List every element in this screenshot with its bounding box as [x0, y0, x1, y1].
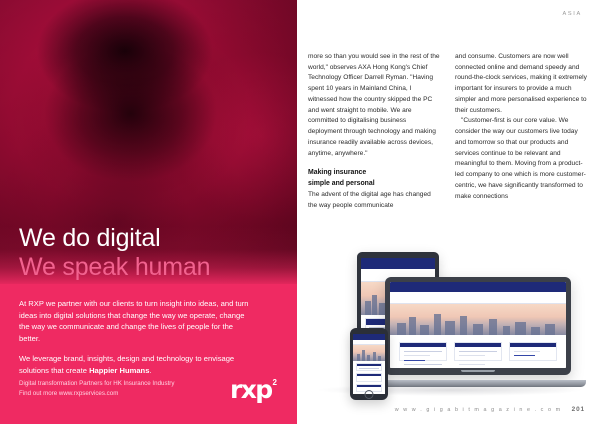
- advert-paragraph-2-emphasis: Happier Humans: [89, 366, 149, 375]
- advert-paragraph-2: We leverage brand, insights, design and …: [19, 353, 255, 376]
- logo-superscript: 2: [273, 379, 277, 387]
- laptop-screen: [390, 282, 566, 368]
- ui-card-line: [404, 355, 430, 356]
- ui-card-line: [404, 364, 441, 365]
- section-kicker: ASIA: [562, 11, 582, 17]
- device-mockup-image: [301, 250, 597, 402]
- laptop-base: [370, 380, 586, 387]
- ui-card-line: [514, 351, 540, 352]
- caption-line-1: Digital transformation Partners for HK I…: [19, 379, 219, 389]
- ui-topbar: [361, 258, 435, 269]
- ui-card-header: [510, 343, 557, 347]
- subheading-line-1: Making insurance: [308, 169, 366, 176]
- headline-line-1: We do digital: [19, 224, 210, 253]
- ui-card-line: [459, 364, 485, 365]
- ui-card: [509, 342, 558, 361]
- skyline-building: [445, 321, 456, 335]
- laptop-device: [385, 277, 571, 387]
- laptop-lid: [385, 277, 571, 375]
- skyline-building: [545, 324, 556, 336]
- skyline-building: [515, 322, 526, 336]
- phone-screen-ui: [353, 334, 385, 394]
- ui-card-line: [459, 351, 496, 352]
- headline-line-2: We speak human: [19, 253, 210, 282]
- skyline-building: [373, 352, 376, 361]
- advert-paragraph-1: At RXP we partner with our clients to tu…: [19, 298, 255, 344]
- skyline-building: [531, 327, 540, 336]
- article-column-1: more so than you would see in the rest o…: [308, 52, 441, 212]
- ui-hero-banner: [390, 304, 566, 335]
- ui-card-row: [390, 335, 566, 368]
- skyline-building: [397, 323, 406, 335]
- skyline-building: [362, 350, 365, 361]
- advert-headline: We do digital We speak human: [19, 224, 210, 283]
- phone-screen: [353, 334, 385, 394]
- smartphone-device: [350, 328, 388, 400]
- skyline-building: [434, 314, 441, 336]
- ui-card: [356, 363, 383, 372]
- advertisement-panel: We do digital We speak human At RXP we p…: [0, 0, 297, 424]
- advert-caption: Digital transformation Partners for HK I…: [19, 379, 219, 399]
- advert-paragraph-2-suffix: .: [149, 366, 151, 375]
- column1-subheading: Making insurance simple and personal: [308, 168, 441, 189]
- ui-card-header: [455, 343, 502, 347]
- article-column-2: and consume. Customers are now well conn…: [455, 52, 588, 212]
- column2-paragraph-1: and consume. Customers are now well conn…: [455, 52, 588, 116]
- subheading-line-2: simple and personal: [308, 180, 375, 187]
- footer-website: w w w . g i g a b i t m a g a z i n e . …: [395, 407, 562, 413]
- article-columns: more so than you would see in the rest o…: [308, 52, 589, 212]
- article-page: ASIA more so than you would see in the r…: [297, 0, 600, 424]
- ui-card-header: [357, 364, 382, 366]
- laptop-screen-ui: [390, 282, 566, 368]
- advert-body-copy: At RXP we partner with our clients to tu…: [19, 298, 255, 376]
- skyline-building: [420, 325, 429, 335]
- page-footer: w w w . g i g a b i t m a g a z i n e . …: [395, 406, 585, 413]
- magazine-spread: We do digital We speak human At RXP we p…: [0, 0, 600, 424]
- laptop-lid-notch: [461, 370, 495, 372]
- ui-card-line: [459, 355, 485, 356]
- caption-line-2: Find out more www.rxpservices.com: [19, 389, 219, 399]
- ui-card-line: [459, 360, 485, 361]
- rxp-logo: rxp 2: [230, 377, 277, 402]
- skyline-building: [372, 295, 376, 316]
- ui-card-header: [400, 343, 447, 347]
- column2-paragraph-2: "Customer-first is our core value. We co…: [455, 116, 588, 202]
- column1-paragraph-2: The advent of the digital age has change…: [308, 190, 441, 211]
- ui-card-header: [357, 374, 382, 376]
- skyline-building: [489, 319, 498, 336]
- ui-card: [356, 373, 383, 382]
- skyline-building: [365, 301, 370, 315]
- skyline-building: [460, 316, 467, 335]
- ui-card-line: [514, 355, 535, 356]
- ui-card: [454, 342, 503, 361]
- ui-navbar: [390, 292, 566, 304]
- skyline-building: [503, 326, 510, 335]
- phone-home-button: [365, 390, 374, 399]
- ui-card-line: [404, 351, 441, 352]
- skyline-building: [473, 324, 484, 335]
- ui-topbar: [390, 282, 566, 292]
- ui-card-line: [404, 360, 425, 361]
- column1-paragraph-1: more so than you would see in the rest o…: [308, 52, 441, 159]
- footer-page-number: 201: [572, 406, 585, 413]
- logo-wordmark: rxp: [230, 377, 272, 402]
- skyline-building: [379, 303, 385, 315]
- skyline-building: [409, 317, 416, 335]
- ui-card: [399, 342, 448, 361]
- ui-card-header: [357, 385, 382, 387]
- skyline-building: [357, 354, 360, 361]
- ui-hero-banner: [353, 345, 385, 361]
